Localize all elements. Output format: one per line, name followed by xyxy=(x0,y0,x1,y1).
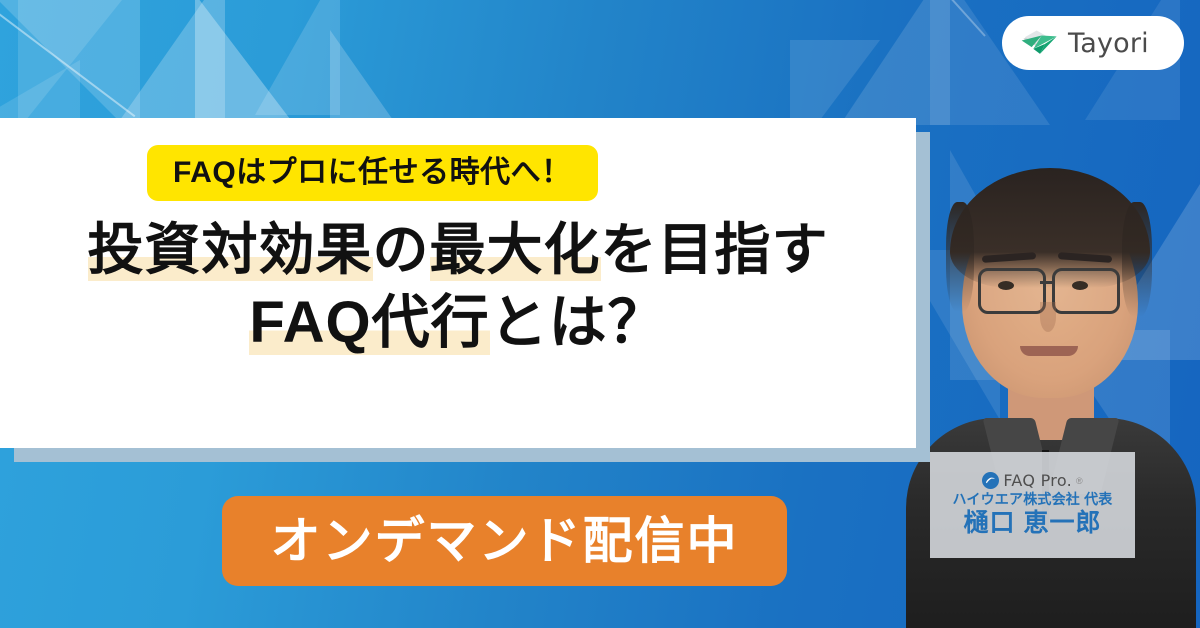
tayori-logo[interactable]: Tayori xyxy=(1002,16,1184,70)
decor-triangle-tl-6 xyxy=(330,30,400,130)
cta-button[interactable]: オンデマンド配信中 xyxy=(222,496,787,586)
headline-text-1d: を目指す xyxy=(601,218,829,281)
speaker-company: ハイウエア株式会社 代表 xyxy=(952,492,1112,507)
headline-text-1b: の xyxy=(373,218,430,281)
portrait-mouth xyxy=(1020,346,1078,356)
headline-line-2: FAQ代行とは？ xyxy=(0,289,916,356)
headline-line-1: 投資対効果の最大化を目指す xyxy=(0,218,916,283)
cta-button-label: オンデマンド配信中 xyxy=(271,516,739,566)
page-title: 投資対効果の最大化を目指す FAQ代行とは？ xyxy=(0,218,916,356)
faqpro-logo-label: FAQ Pro. xyxy=(1003,473,1072,489)
webinar-banner: FAQはプロに任せる時代へ！ 投資対効果の最大化を目指す FAQ代行とは？ オン… xyxy=(0,0,1200,628)
tagline-badge-label: FAQはプロに任せる時代へ！ xyxy=(173,158,572,188)
faqpro-logo-trademark: ® xyxy=(1076,476,1083,486)
headline-highlight-1: 投資対効果 xyxy=(88,218,373,281)
headline-highlight-3: FAQ代行 xyxy=(249,290,489,355)
speaker-name-plate: FAQ Pro. ® ハイウエア株式会社 代表 樋口 恵一郎 xyxy=(930,452,1135,558)
portrait-glasses-left xyxy=(978,268,1046,314)
portrait-glasses-bridge xyxy=(1040,281,1052,284)
portrait-hair-side-left xyxy=(946,202,974,312)
portrait-hair-side-right xyxy=(1122,202,1152,317)
headline-text-2b: とは？ xyxy=(490,290,667,355)
decor-triangle-tl-5 xyxy=(255,0,340,115)
tayori-logo-label: Tayori xyxy=(1068,30,1149,57)
tagline-badge: FAQはプロに任せる時代へ！ xyxy=(147,145,598,201)
paper-plane-envelope-icon xyxy=(1020,26,1060,60)
faqpro-logo-icon xyxy=(982,472,999,489)
content-card-underbar xyxy=(14,448,930,462)
faqpro-logo: FAQ Pro. ® xyxy=(982,472,1082,489)
portrait-nose xyxy=(1040,302,1056,332)
portrait-glasses-right xyxy=(1052,268,1120,314)
speaker-name: 樋口 恵一郎 xyxy=(964,510,1102,538)
swoosh-icon xyxy=(985,475,996,486)
headline-highlight-2: 最大化 xyxy=(430,218,601,281)
